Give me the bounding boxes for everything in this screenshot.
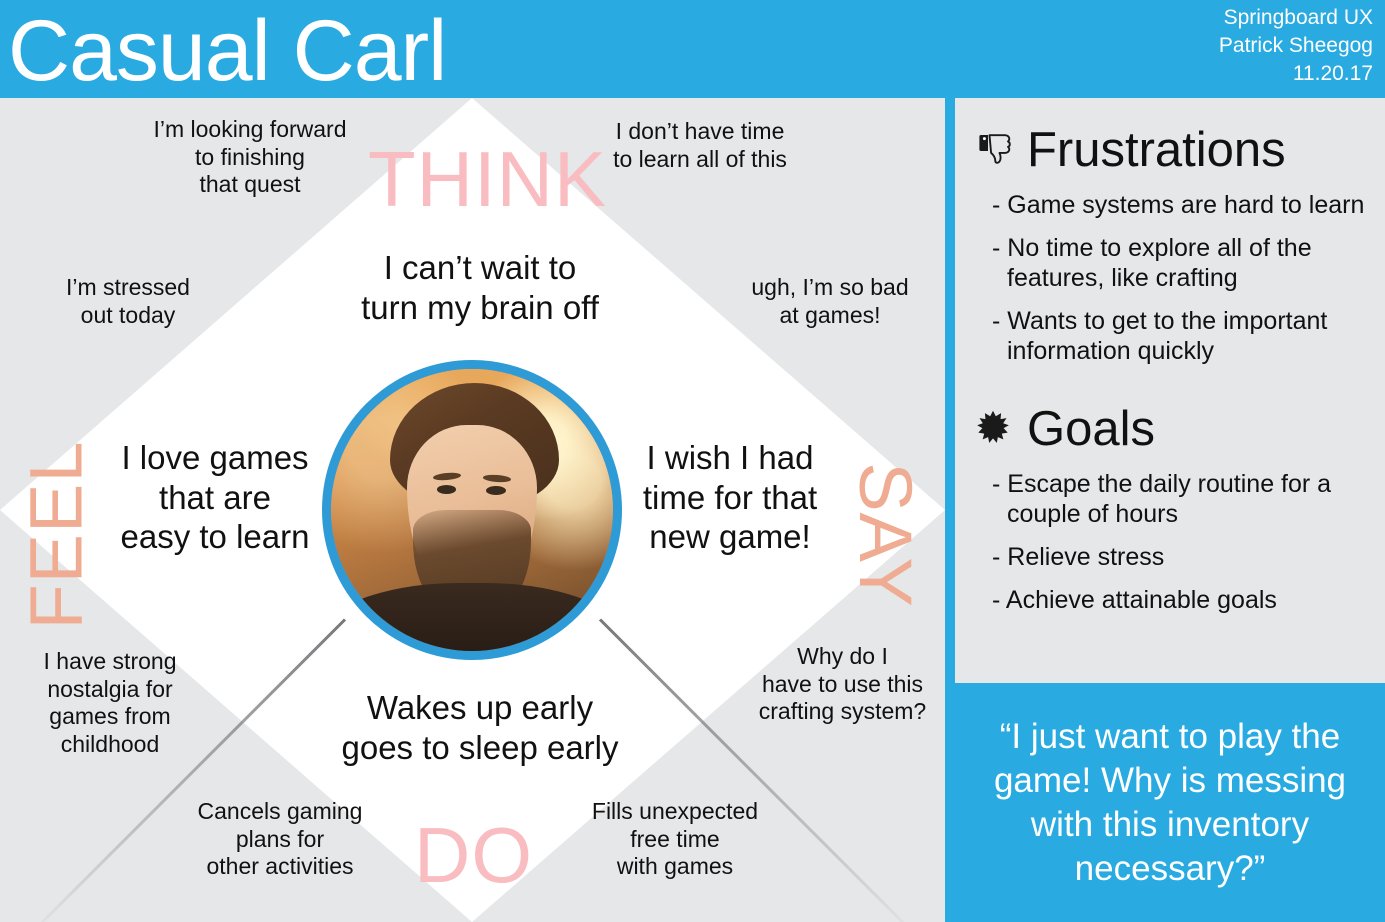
- quote-feel-outer-top: I’m stressedout today: [28, 274, 228, 329]
- quote-think-outer-left: I’m looking forwardto finishingthat ques…: [140, 116, 360, 199]
- frustrations-title: Frustrations: [1027, 122, 1286, 178]
- goals-heading: Goals: [975, 401, 1385, 457]
- vertical-divider: [945, 98, 955, 922]
- quadrant-label-feel: FEEL: [20, 440, 94, 629]
- portrait-jacket: [322, 583, 622, 660]
- goal-item: - Achieve attainable goals: [989, 585, 1385, 615]
- quote-think-outer-right: I don’t have timeto learn all of this: [600, 118, 800, 173]
- quote-say-center: I wish I hadtime for thatnew game!: [620, 438, 840, 557]
- starburst-icon: [975, 409, 1015, 449]
- persona-poster: THINK DO FEEL SAY I’m looking forwardto …: [0, 0, 1385, 922]
- quote-feel-center: I love gamesthat areeasy to learn: [100, 438, 330, 557]
- quadrant-label-say: SAY: [848, 462, 922, 608]
- frustration-item: - Wants to get to the important informat…: [989, 306, 1385, 366]
- goal-item: - Escape the daily routine for a couple …: [989, 469, 1385, 529]
- quote-feel-outer-bottom: I have strongnostalgia forgames fromchil…: [10, 648, 210, 758]
- pull-quote-text: “I just want to play the game! Why is me…: [955, 715, 1385, 891]
- persona-portrait: [322, 360, 622, 660]
- header-meta-author: Patrick Sheegog: [1219, 32, 1373, 60]
- insights-panel: Frustrations - Game systems are hard to …: [955, 98, 1385, 683]
- thumbs-down-icon: [975, 130, 1015, 170]
- portrait-eye-left: [437, 485, 457, 494]
- frustration-item: - Game systems are hard to learn: [989, 190, 1385, 220]
- frustration-item: - No time to explore all of the features…: [989, 233, 1385, 293]
- quote-do-outer-right: Fills unexpectedfree timewith games: [575, 798, 775, 881]
- portrait-photo: [331, 369, 613, 651]
- empathy-map-canvas: THINK DO FEEL SAY I’m looking forwardto …: [0, 98, 945, 922]
- quote-do-outer-left: Cancels gamingplans forother activities: [180, 798, 380, 881]
- quote-say-outer-top: ugh, I’m so badat games!: [730, 274, 930, 329]
- pull-quote-block: “I just want to play the game! Why is me…: [955, 683, 1385, 922]
- frustrations-list: - Game systems are hard to learn - No ti…: [989, 190, 1385, 366]
- quote-say-outer-bottom: Why do Ihave to use thiscrafting system?: [745, 643, 940, 726]
- goal-item: - Relieve stress: [989, 542, 1385, 572]
- goals-title: Goals: [1027, 401, 1155, 457]
- header-meta-date: 11.20.17: [1219, 60, 1373, 88]
- header-meta-course: Springboard UX: [1219, 4, 1373, 32]
- quadrant-label-think: THINK: [368, 142, 607, 216]
- quote-think-center: I can’t wait toturn my brain off: [290, 248, 670, 327]
- portrait-eye-right: [486, 486, 506, 495]
- goals-list: - Escape the daily routine for a couple …: [989, 469, 1385, 615]
- page-title: Casual Carl: [8, 8, 446, 94]
- quadrant-label-do: DO: [414, 818, 533, 892]
- quote-do-center: Wakes up earlygoes to sleep early: [280, 688, 680, 767]
- frustrations-heading: Frustrations: [975, 122, 1385, 178]
- header-meta: Springboard UX Patrick Sheegog 11.20.17: [1219, 4, 1373, 88]
